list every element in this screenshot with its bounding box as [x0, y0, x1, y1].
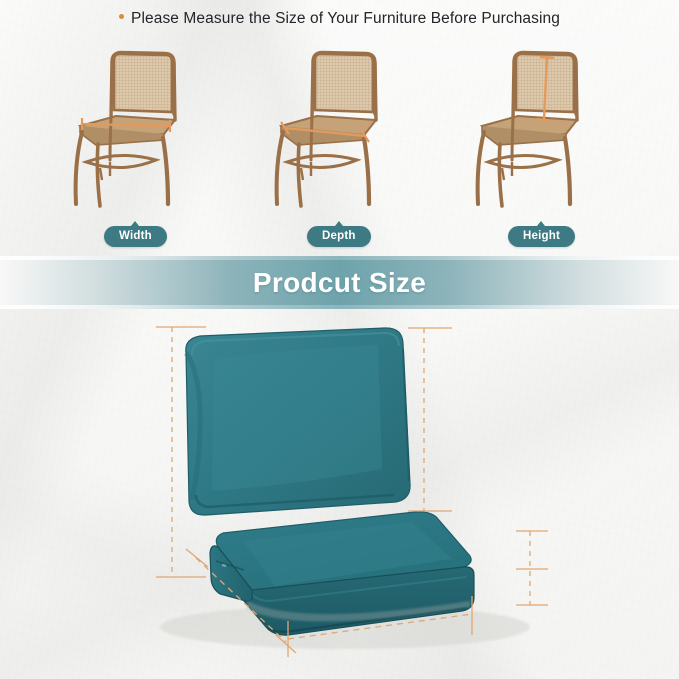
banner-title: Prodcut Size	[253, 267, 426, 299]
height-chair	[446, 44, 652, 254]
chair-illustration-height	[446, 44, 652, 222]
headline: Please Measure the Size of Your Furnitur…	[0, 10, 679, 28]
cushion-illustration	[0, 309, 679, 679]
chair-illustration-width	[44, 44, 250, 222]
section-banner: Prodcut Size	[0, 256, 679, 309]
width-chair	[44, 44, 250, 254]
chair-label-depth-text: Depth	[322, 230, 356, 242]
product-infographic: Please Measure the Size of Your Furnitur…	[0, 0, 679, 679]
bullet-icon	[119, 14, 124, 19]
depth-chair	[245, 44, 451, 254]
pill-notch-icon	[335, 221, 343, 226]
chair-label-height-text: Height	[523, 230, 560, 242]
product-section: 27" 21" 24" 24" 6" 6 Inches	[0, 309, 679, 679]
pill-notch-icon	[537, 221, 545, 226]
chair-illustration-depth	[245, 44, 451, 222]
chair-label-width-text: Width	[119, 230, 152, 242]
chair-label-depth: Depth	[307, 226, 371, 247]
headline-text: Please Measure the Size of Your Furnitur…	[131, 10, 560, 27]
chair-label-height: Height	[508, 226, 575, 247]
chair-label-width: Width	[104, 226, 167, 247]
pill-notch-icon	[131, 221, 139, 226]
